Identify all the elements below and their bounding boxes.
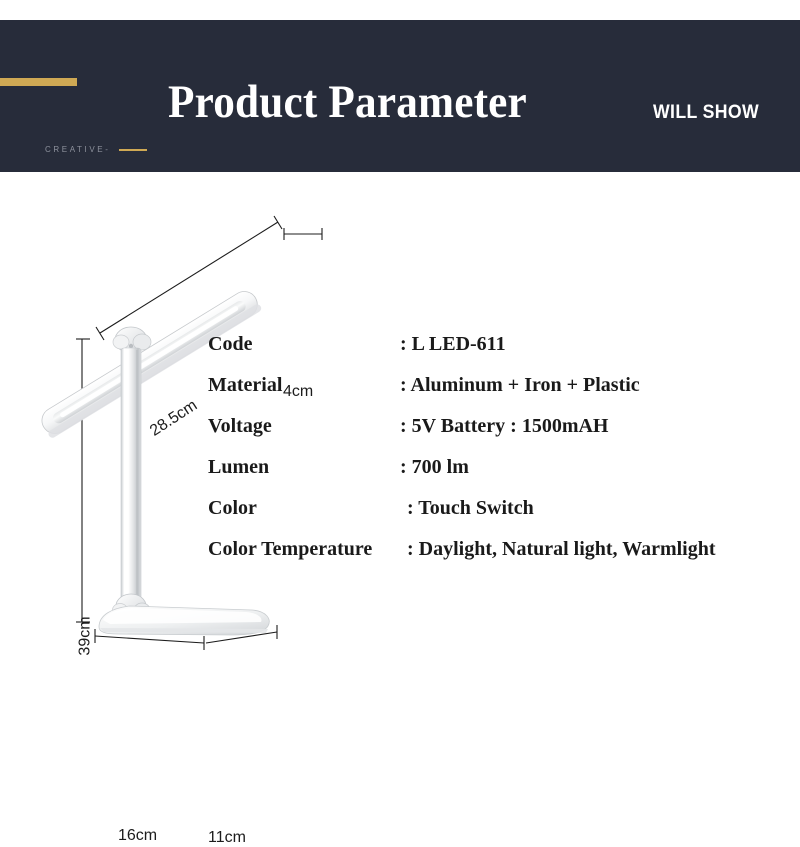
header-eyebrow-label: CREATIVE- [45,145,110,154]
spec-row-voltage: Voltage : 5V Battery : 1500mAH [208,414,788,455]
spec-value-color-temperature: : Daylight, Natural light, Warmlight [407,537,716,561]
spec-value-code: : L LED-611 [400,332,506,356]
header-accent-bar [0,78,77,86]
dimension-label-base-depth: 11cm [208,829,246,847]
spec-key-color-temperature: Color Temperature [208,537,372,561]
header-subtitle: WILL SHOW [653,102,759,124]
page-title: Product Parameter [168,76,527,128]
specification-table: Code : L LED-611 Material : Aluminum + I… [208,332,788,578]
spec-key-lumen: Lumen [208,455,269,479]
dimension-label-base-width: 16cm [118,827,157,845]
lamp-base [99,606,269,635]
dimension-label-total-height: 39cm [77,616,95,655]
spec-value-color: : Touch Switch [407,496,534,520]
spec-key-color: Color [208,496,257,520]
spec-row-lumen: Lumen : 700 lm [208,455,788,496]
spec-row-color: Color : Touch Switch [208,496,788,537]
spec-value-material: : Aluminum + Iron + Plastic [400,373,640,397]
spec-row-material: Material : Aluminum + Iron + Plastic [208,373,788,414]
spec-row-code: Code : L LED-611 [208,332,788,373]
spec-key-code: Code [208,332,252,356]
spec-value-lumen: : 700 lm [400,455,469,479]
lamp-pole [121,348,141,602]
header-banner: CREATIVE- Product Parameter WILL SHOW [0,20,800,172]
spec-value-voltage: : 5V Battery : 1500mAH [400,414,608,438]
spec-key-material: Material [208,373,282,397]
header-eyebrow-line [119,149,147,151]
header-eyebrow: CREATIVE- [45,145,147,154]
spec-key-voltage: Voltage [208,414,272,438]
spec-row-color-temperature: Color Temperature : Daylight, Natural li… [208,537,788,578]
